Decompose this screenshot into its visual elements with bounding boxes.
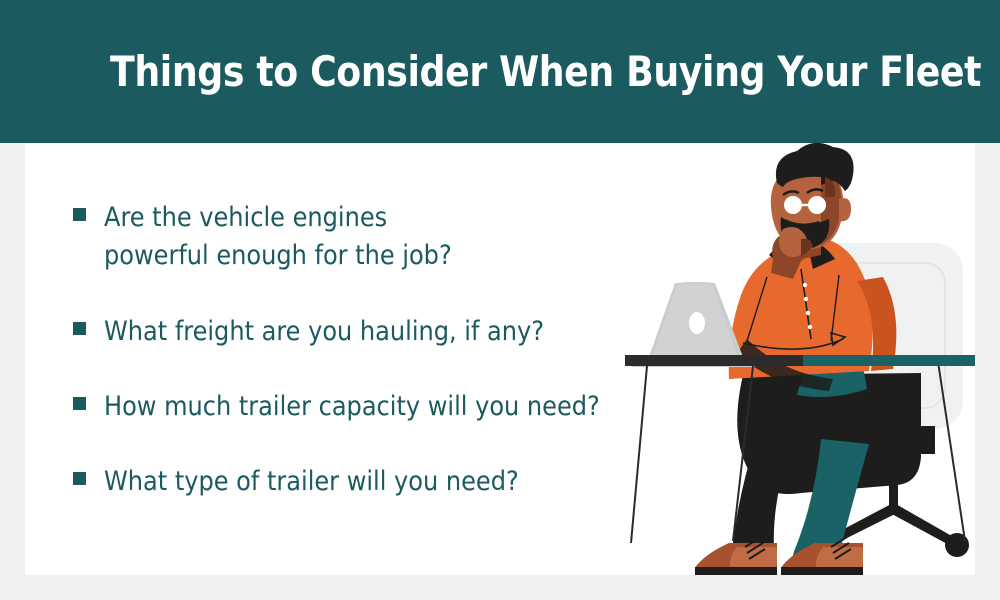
square-bullet-icon: [73, 208, 86, 221]
considerations-list: Are the vehicle engines powerful enough …: [73, 199, 673, 539]
list-item-label: Are the vehicle engines powerful enough …: [104, 199, 452, 276]
square-bullet-icon: [73, 472, 86, 485]
list-item-label: What type of trailer will you need?: [104, 463, 519, 501]
list-item: Are the vehicle engines powerful enough …: [73, 199, 673, 276]
list-item-label: How much trailer capacity will you need?: [104, 388, 600, 426]
list-item: What type of trailer will you need?: [73, 463, 673, 501]
header-band: Things to Consider When Buying Your Flee…: [0, 0, 1000, 143]
list-item-line-1: Are the vehicle engines: [104, 202, 387, 233]
list-item-line-2: powerful enough for the job?: [104, 240, 452, 271]
list-item: What freight are you hauling, if any?: [73, 313, 673, 351]
content-card: Are the vehicle engines powerful enough …: [25, 143, 975, 575]
list-item-label: What freight are you hauling, if any?: [104, 313, 544, 351]
list-item: How much trailer capacity will you need?: [73, 388, 673, 426]
thinking-businessman-illustration: [625, 143, 975, 575]
square-bullet-icon: [73, 322, 86, 335]
square-bullet-icon: [73, 397, 86, 410]
page-title: Things to Consider When Buying Your Flee…: [110, 47, 981, 96]
infographic-page: Things to Consider When Buying Your Flee…: [0, 0, 1000, 600]
glasses-icon: [784, 196, 802, 214]
